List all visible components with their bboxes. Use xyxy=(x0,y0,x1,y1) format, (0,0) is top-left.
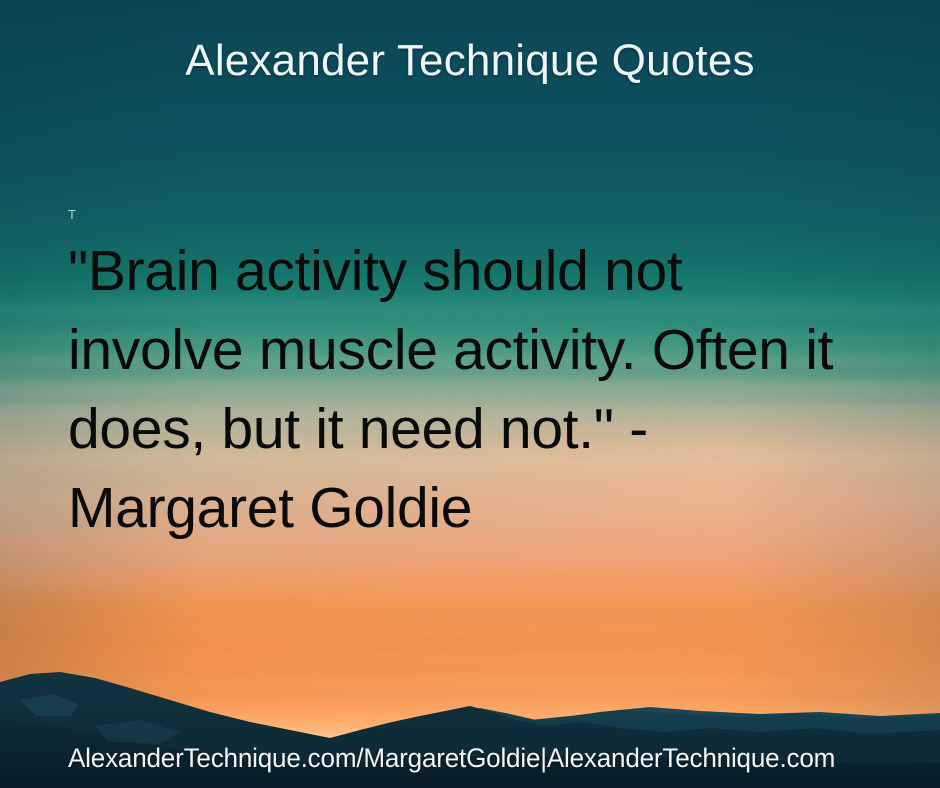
quote-line: involve muscle activity. Often it xyxy=(68,311,868,390)
quote-line: does, but it need not." - xyxy=(68,390,868,469)
quote-image-canvas: Alexander Technique Quotes T "Brain acti… xyxy=(0,0,940,788)
footer-url[interactable]: AlexanderTechnique.com/MargaretGoldie|Al… xyxy=(68,742,835,774)
page-title: Alexander Technique Quotes xyxy=(0,36,940,86)
quote-line: "Brain activity should not xyxy=(68,232,868,311)
stray-t-marker: T xyxy=(68,208,76,221)
quote-text-block: "Brain activity should not involve muscl… xyxy=(68,232,868,548)
quote-line: Margaret Goldie xyxy=(68,469,868,548)
